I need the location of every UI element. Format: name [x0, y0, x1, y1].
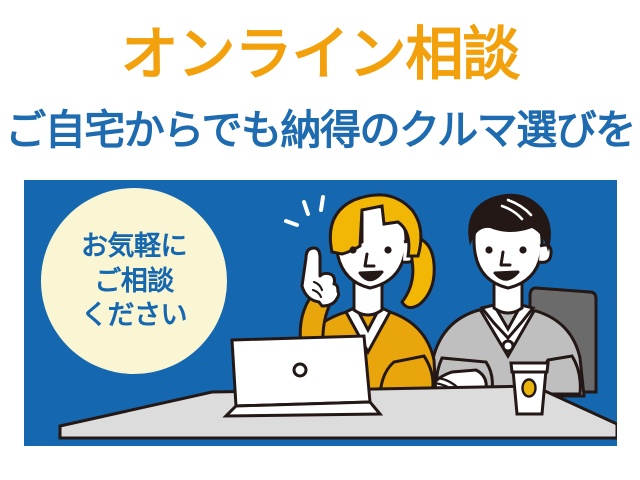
page-subtitle: ご自宅からでも納得のクルマ選びを	[0, 108, 640, 153]
consultation-badge: お気軽に ご相談 ください	[41, 188, 227, 374]
laptop-icon	[226, 336, 380, 416]
pointing-hand-icon	[302, 248, 339, 306]
illustration-panel: お気軽に ご相談 ください	[24, 180, 617, 446]
badge-line-2: ご相談	[94, 264, 174, 299]
coffee-cup-icon	[511, 363, 548, 414]
page-title: オンライン相談	[0, 26, 640, 84]
badge-line-3: ください	[81, 298, 187, 333]
badge-line-1: お気軽に	[81, 229, 187, 264]
sparkle-icon	[286, 197, 323, 225]
banner-root: オンライン相談 ご自宅からでも納得のクルマ選びを	[0, 0, 640, 480]
